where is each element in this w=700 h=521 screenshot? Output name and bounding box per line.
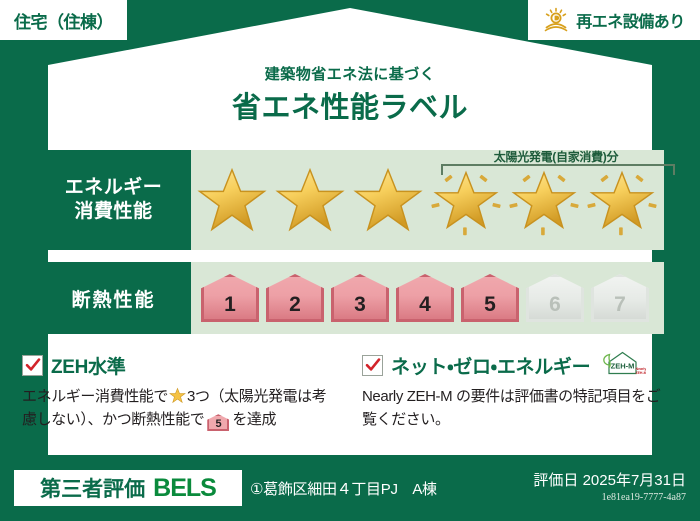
insulation-performance-key: 断熱性能 [36, 262, 191, 334]
grade-badge: 1 [201, 274, 259, 322]
check-icon [25, 357, 41, 373]
bels-certification-box: 第三者評価 BELS [14, 470, 242, 506]
grade-badge: 6 [526, 274, 584, 322]
insulation-performance-row: 断熱性能 1 2 3 4 5 6 7 [36, 262, 664, 334]
label-footer: 第三者評価 BELS ①葛飾区細田４丁目PJ A棟 評価日 2025年7月31日… [0, 461, 700, 521]
net-zero-energy-block: ネット・ゼロ・エネルギー ZEH-M Nearly ZEH-M Nearly Z… [350, 352, 678, 444]
label-title: 省エネ性能ラベル [0, 84, 700, 126]
evaluation-date: 評価日 2025年7月31日 [533, 469, 686, 490]
energy-key-line1: エネルギー [65, 176, 163, 200]
checkbox-checked [362, 355, 383, 376]
building-type-label: 住宅（住棟） [14, 8, 113, 33]
energy-performance-value: 太陽光発電(自家消費)分 [191, 150, 664, 250]
net-zero-energy-title: ネット・ゼロ・エネルギー [391, 352, 590, 379]
star-item-solar [427, 161, 505, 239]
star-item [193, 161, 271, 239]
building-type-tab: 住宅（住棟） [0, 0, 127, 40]
net-zero-energy-body: Nearly ZEH-M の要件は評価書の特記項目をご覧ください。 [362, 385, 664, 432]
grade-badge-inline: 5 [207, 414, 229, 431]
svg-text:ZEH-M: ZEH-M [636, 371, 647, 375]
star-icon [352, 164, 424, 236]
star-item-solar [505, 161, 583, 239]
energy-key-line2: 消費性能 [74, 200, 152, 224]
star-icon [274, 164, 346, 236]
property-address: ①葛飾区細田４丁目PJ A棟 [250, 478, 437, 499]
zeh-criteria-area: ZEH水準 エネルギー消費性能で3つ（太陽光発電は考慮しない）、かつ断熱性能で5… [22, 352, 678, 444]
star-item [349, 161, 427, 239]
zeh-m-logo-icon: ZEH-M Nearly ZEH-M [598, 350, 646, 380]
renewable-energy-badge: 再エネ設備あり [528, 0, 700, 40]
svg-text:Nearly: Nearly [636, 367, 646, 371]
renewable-badge-label: 再エネ設備あり [576, 8, 685, 32]
insulation-grade-scale: 1 2 3 4 5 6 7 [191, 262, 664, 334]
zeh-standard-block: ZEH水準 エネルギー消費性能で3つ（太陽光発電は考慮しない）、かつ断熱性能で5… [22, 352, 350, 444]
checkbox-checked [22, 355, 43, 376]
star-icon-inline [169, 387, 186, 404]
grade-badge: 3 [331, 274, 389, 322]
svg-text:ZEH-M: ZEH-M [611, 362, 635, 371]
grade-badge: 4 [396, 274, 454, 322]
star-icon [586, 164, 658, 236]
energy-performance-key: エネルギー 消費性能 [36, 150, 191, 250]
grade-badge: 5 [461, 274, 519, 322]
zeh-standard-header: ZEH水準 [22, 352, 336, 378]
bels-jp-label: 第三者評価 [40, 473, 145, 503]
star-icon [196, 164, 268, 236]
star-rating [191, 150, 664, 250]
sun-icon [543, 7, 569, 33]
check-icon [365, 357, 381, 373]
star-icon [508, 164, 580, 236]
net-zero-energy-header: ネット・ゼロ・エネルギー ZEH-M Nearly ZEH-M [362, 352, 664, 378]
energy-performance-row: エネルギー 消費性能 太陽光発電(自家消費)分 [36, 150, 664, 250]
grade-badge: 7 [591, 274, 649, 322]
zeh-body-part3: を達成 [232, 411, 276, 428]
zeh-body-part1: エネルギー消費性能で [22, 388, 168, 405]
label-uid: 1e81ea19-7777-4a87 [602, 492, 686, 503]
star-icon [430, 164, 502, 236]
bels-en-label: BELS [153, 474, 216, 503]
star-item-solar [583, 161, 661, 239]
label-subtitle: 建築物省エネ法に基づく [0, 63, 700, 84]
star-item [271, 161, 349, 239]
grade-badge: 2 [266, 274, 324, 322]
energy-performance-label: 住宅（住棟） 再エネ設備あり 建築物省エネ法に基づく 省エネ性能ラベル エネルギ… [0, 0, 700, 521]
zeh-standard-title: ZEH水準 [51, 352, 126, 379]
zeh-standard-body: エネルギー消費性能で3つ（太陽光発電は考慮しない）、かつ断熱性能で5を達成 [22, 385, 336, 432]
